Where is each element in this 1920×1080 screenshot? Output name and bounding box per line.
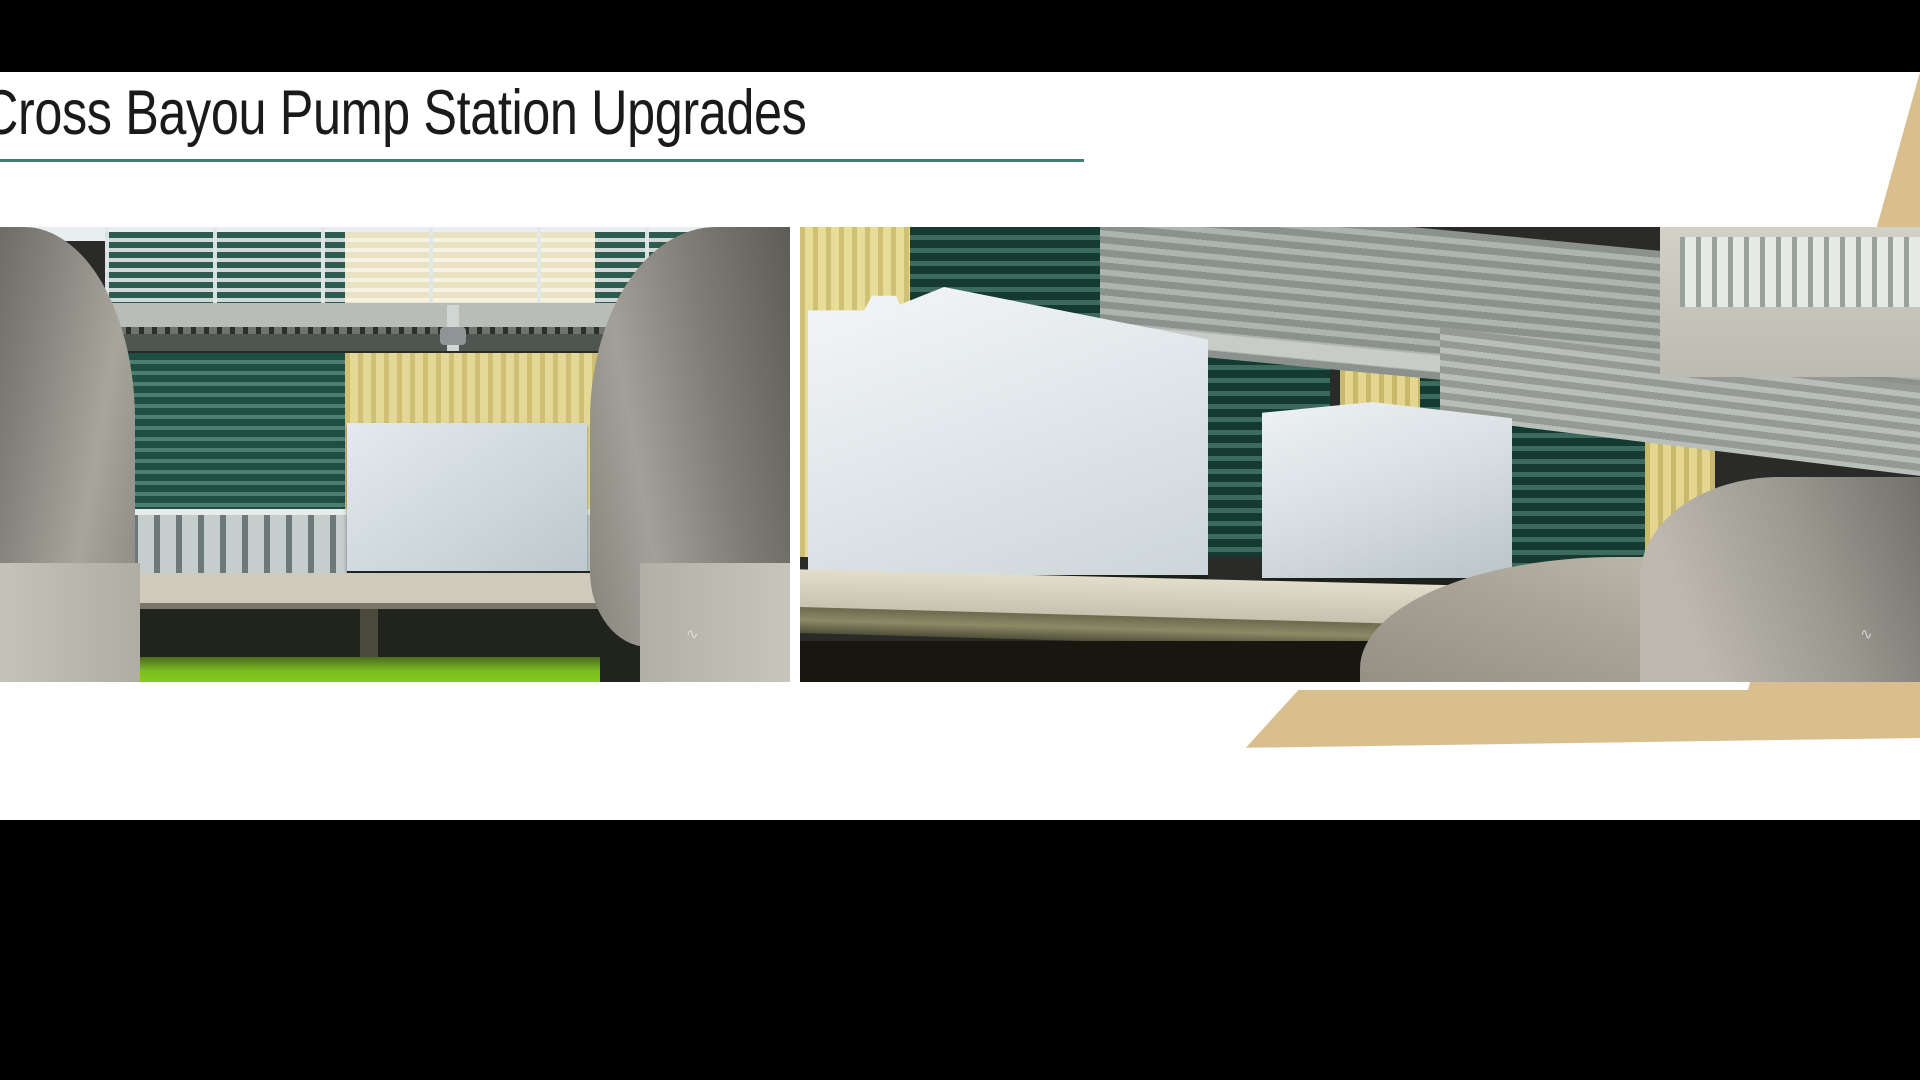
photo-before: ∿: [0, 227, 790, 682]
new-generator-enclosure-1: [808, 287, 1208, 579]
page-title: Cross Bayou Pump Station Upgrades: [0, 82, 942, 145]
video-frame: Cross Bayou Pump Station Upgrades: [0, 0, 1920, 1080]
photo-signature-left: ∿: [686, 625, 699, 643]
hanging-fixture: [440, 327, 466, 345]
decoration-white-wedge-bottom: [0, 738, 1920, 820]
concrete-block-left: [0, 563, 140, 682]
presentation-slide: Cross Bayou Pump Station Upgrades: [0, 72, 1920, 820]
decoration-white-wedge-top-right: [1580, 72, 1920, 232]
photo-after: ∿: [800, 227, 1920, 682]
new-generator-enclosure-2: [1262, 402, 1512, 582]
upper-grating: [1680, 237, 1920, 307]
photo-signature-right: ∿: [1860, 625, 1873, 643]
letterbox-bottom: [0, 820, 1920, 1080]
photo-comparison-strip: ∿: [0, 227, 1920, 682]
title-underline-rule: [0, 159, 1084, 162]
concrete-block-right: [640, 563, 790, 682]
discharge-pipe-edge: [1640, 477, 1920, 682]
existing-control-cabinet: [347, 423, 587, 575]
grass-patch: [120, 657, 600, 682]
title-block: Cross Bayou Pump Station Upgrades: [0, 82, 1182, 162]
letterbox-top: [0, 0, 1920, 72]
